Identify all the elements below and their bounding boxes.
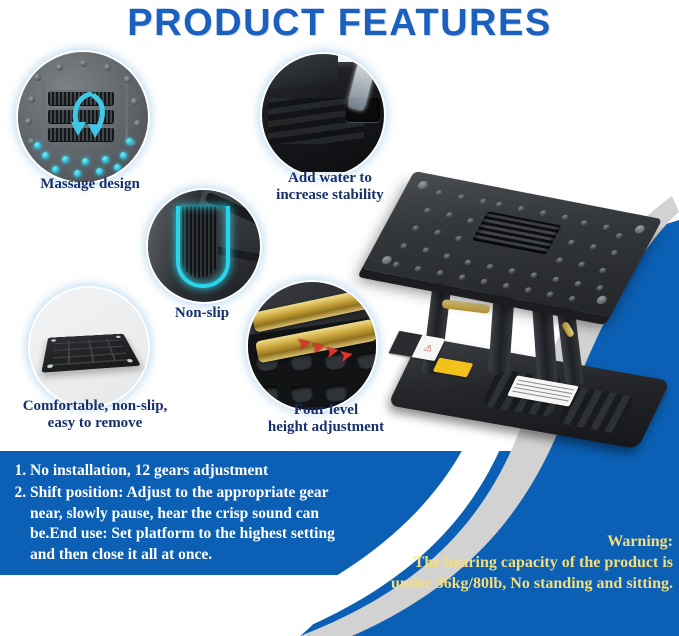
massage-roller-icon bbox=[18, 52, 148, 182]
feature-caption-comfortable-mat: Comfortable, non-slip, easy to remove bbox=[0, 398, 190, 433]
brass-gear-mechanism-icon: ➤ ➤ ➤ ➤ bbox=[248, 282, 376, 410]
adjustable-footrest-product-photo: ⚠ bbox=[384, 184, 676, 440]
instruction-item: No installation, 12 gears adjustment bbox=[30, 461, 346, 482]
page-title: PRODUCT FEATURES bbox=[0, 2, 679, 45]
platform-vent bbox=[472, 211, 562, 254]
caption-line-1: Four level bbox=[294, 402, 358, 418]
caption-line-2: increase stability bbox=[276, 187, 384, 203]
caption-line-1: Add water to bbox=[288, 170, 372, 186]
rubber-mat-icon bbox=[30, 288, 148, 406]
warning-line-2: under 36kg/80lb, No standing and sitting… bbox=[336, 574, 673, 595]
product-brass-linkage bbox=[442, 299, 491, 314]
caption-line-2: easy to remove bbox=[48, 415, 143, 431]
water-fill-icon bbox=[262, 54, 384, 176]
feature-caption-massage-design: Massage design bbox=[0, 176, 180, 193]
caption-line-1: Comfortable, non-slip, bbox=[23, 398, 168, 414]
caption-line-2: height adjustment bbox=[268, 419, 384, 435]
instructions-list: No installation, 12 gears adjustment Shi… bbox=[8, 461, 346, 566]
massage-dots bbox=[18, 52, 148, 182]
warning-line-1: The bearing capacity of the product is bbox=[336, 553, 673, 574]
warning-panel: Warning: The bearing capacity of the pro… bbox=[336, 532, 679, 594]
product-platform bbox=[362, 171, 663, 317]
instructions-panel: No installation, 12 gears adjustment Shi… bbox=[0, 455, 352, 567]
infographic-canvas: PRODUCT FEATURES bbox=[0, 0, 679, 636]
instruction-item: Shift position: Adjust to the appropriat… bbox=[30, 483, 346, 566]
warning-label: Warning: bbox=[336, 532, 673, 553]
non-slip-foot-icon bbox=[148, 190, 260, 302]
